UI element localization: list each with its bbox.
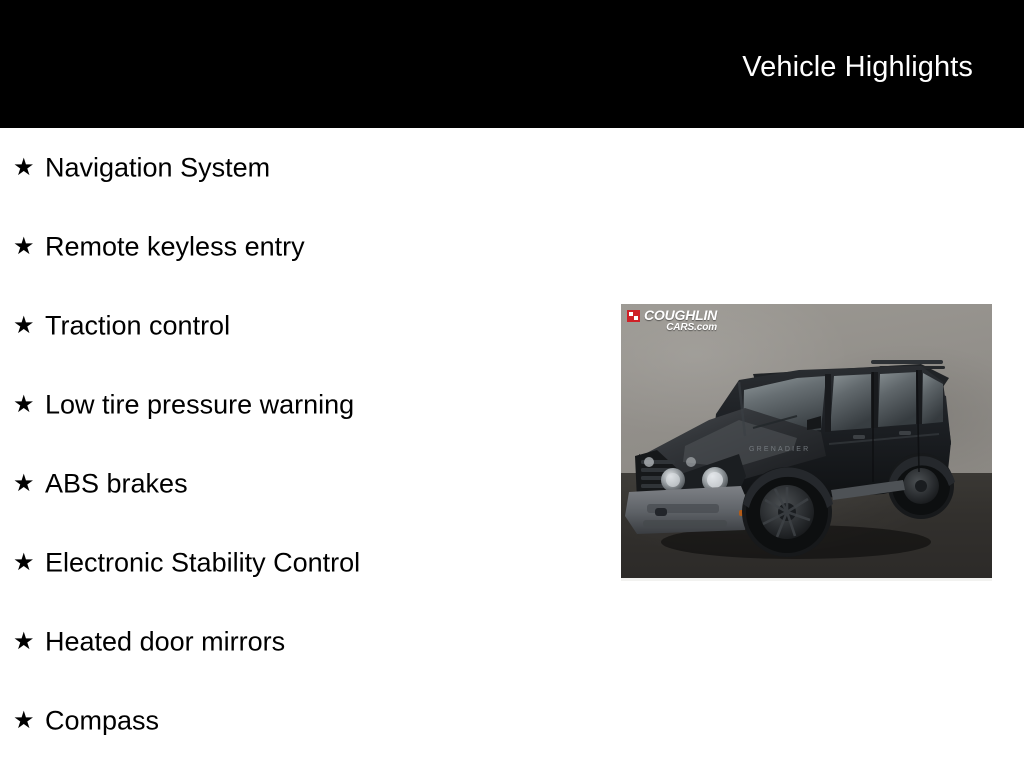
highlight-label: Electronic Stability Control [45, 547, 360, 577]
highlight-label: Traction control [45, 310, 230, 340]
vehicle-photo: GRENADIER [621, 304, 992, 581]
watermark-subtitle: CARS.com [644, 323, 717, 333]
list-item: ★ Traction control [0, 286, 620, 365]
star-icon: ★ [13, 365, 35, 444]
highlight-label: Heated door mirrors [45, 626, 285, 656]
highlight-label: Compass [45, 705, 159, 735]
vehicle-highlights-list: ★ Navigation System ★ Remote keyless ent… [0, 128, 620, 760]
highlight-label: Remote keyless entry [45, 231, 305, 261]
watermark-text: COUGHLIN CARS.com [644, 308, 717, 333]
star-icon: ★ [13, 681, 35, 760]
list-item: ★ Heated door mirrors [0, 602, 620, 681]
page-title: Vehicle Highlights [742, 50, 973, 84]
star-icon: ★ [13, 286, 35, 365]
header-bar: Vehicle Highlights [0, 0, 1024, 128]
star-icon: ★ [13, 128, 35, 207]
highlight-label: Navigation System [45, 152, 270, 182]
star-icon: ★ [13, 444, 35, 523]
coughlin-logo-icon [627, 310, 640, 322]
watermark: COUGHLIN CARS.com [627, 308, 717, 333]
list-item: ★ Remote keyless entry [0, 207, 620, 286]
vehicle-illustration: GRENADIER [621, 304, 992, 581]
list-item: ★ Low tire pressure warning [0, 365, 620, 444]
list-item: ★ Navigation System [0, 128, 620, 207]
list-item: ★ ABS brakes [0, 444, 620, 523]
star-icon: ★ [13, 602, 35, 681]
list-item: ★ Compass [0, 681, 620, 760]
star-icon: ★ [13, 207, 35, 286]
list-item: ★ Electronic Stability Control [0, 523, 620, 602]
highlight-label: Low tire pressure warning [45, 389, 354, 419]
star-icon: ★ [13, 523, 35, 602]
hood-badge-text: GRENADIER [749, 446, 810, 453]
watermark-brand: COUGHLIN [644, 308, 717, 322]
highlight-label: ABS brakes [45, 468, 188, 498]
